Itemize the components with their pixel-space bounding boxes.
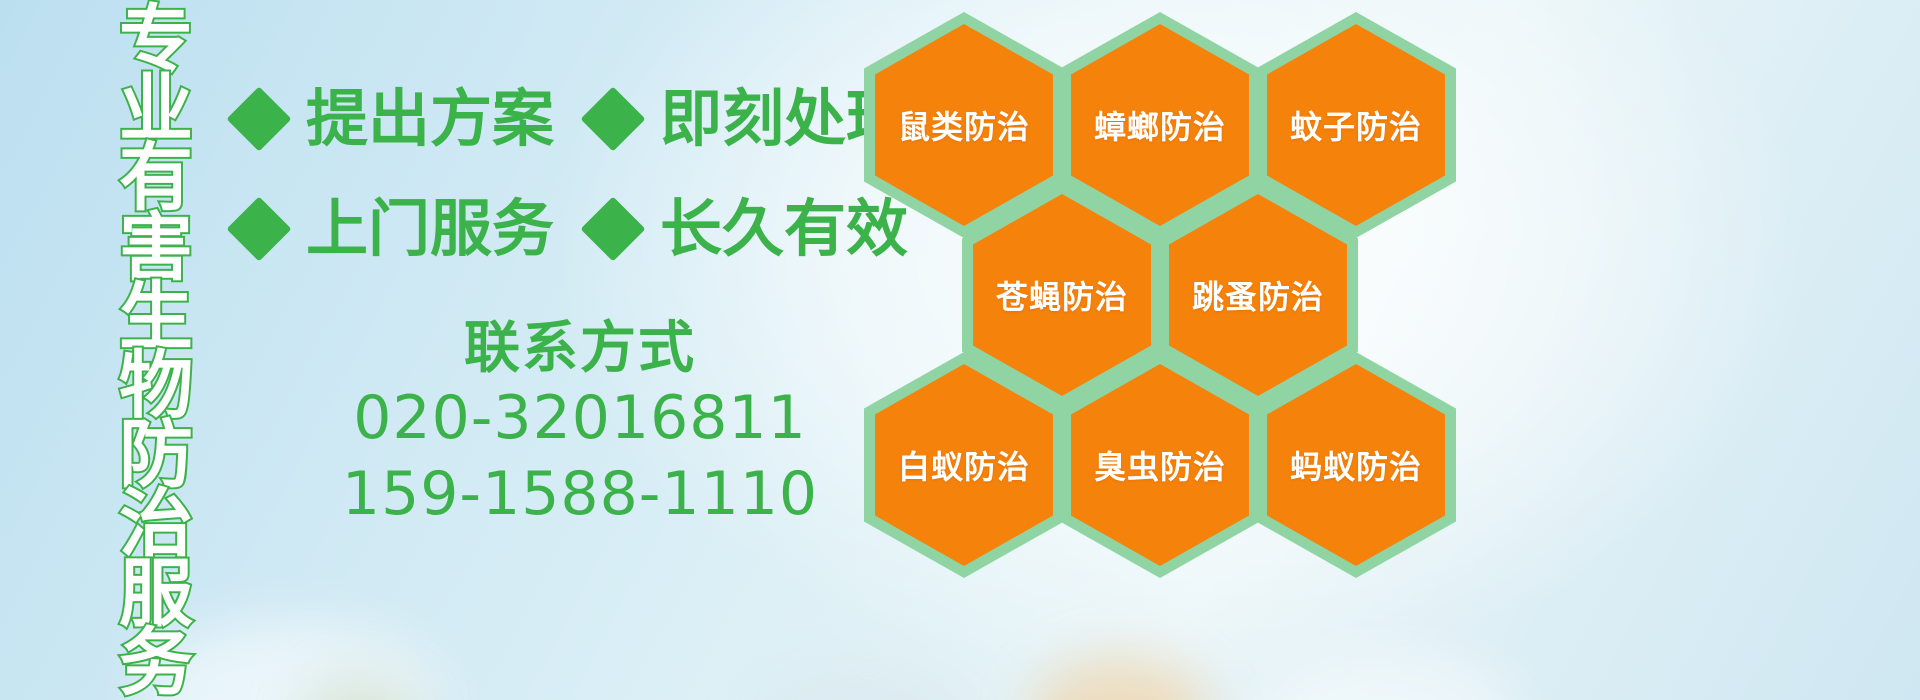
phone-number-landline[interactable]: 020-32016811 (300, 380, 860, 457)
vertical-headline-char: 害 (119, 214, 193, 283)
vertical-headline-char: 防 (119, 421, 193, 490)
banner-canvas: 专 业 有 害 生 物 防 治 服 务 提出方案 即刻处理 上门服务 长久有效 … (0, 0, 1920, 700)
phone-number-mobile[interactable]: 159-1588-1110 (300, 456, 860, 533)
vertical-headline-char: 生 (119, 283, 193, 352)
hex-label: 白蚁防治 (898, 442, 1030, 488)
feature-label: 提出方案 (306, 88, 554, 150)
background-blur-blob (1260, 650, 1520, 700)
vertical-headline-char: 治 (119, 490, 193, 559)
hex-label: 跳蚤防治 (1192, 272, 1324, 318)
vertical-headline-char: 专 (119, 6, 193, 75)
diamond-bullet-icon (580, 196, 645, 261)
hex-label: 臭虫防治 (1094, 442, 1226, 488)
feature-label: 上门服务 (306, 198, 554, 260)
hex-label: 蚂蚁防治 (1290, 442, 1422, 488)
vertical-headline-char: 业 (119, 75, 193, 144)
vertical-headline-char: 务 (119, 629, 193, 698)
hex-label: 蚊子防治 (1290, 102, 1422, 148)
vertical-headline-char: 物 (119, 352, 193, 421)
contact-block: 联系方式 020-32016811 159-1588-1110 (300, 318, 860, 533)
background-blur-blob (760, 666, 980, 700)
vertical-headline-char: 服 (119, 560, 193, 629)
hex-label: 苍蝇防治 (996, 272, 1128, 318)
diamond-bullet-icon (580, 86, 645, 151)
diamond-bullet-icon (226, 196, 291, 261)
vertical-headline: 专 业 有 害 生 物 防 治 服 务 (104, 6, 208, 606)
honeycomb-grid: 鼠类防治 蟑螂防治 蚊子防治 苍蝇防治 跳蚤防治 白蚁防治 臭虫防治 (856, 0, 1456, 580)
background-blur-blob (1030, 658, 1210, 700)
feature-row-1: 提出方案 即刻处理 (236, 88, 908, 150)
feature-row-2: 上门服务 长久有效 (236, 198, 908, 260)
hex-label: 鼠类防治 (898, 102, 1030, 148)
background-blur-blob (300, 676, 420, 700)
diamond-bullet-icon (226, 86, 291, 151)
vertical-headline-char: 有 (119, 144, 193, 213)
hex-label: 蟑螂防治 (1094, 102, 1226, 148)
contact-title: 联系方式 (300, 318, 860, 380)
